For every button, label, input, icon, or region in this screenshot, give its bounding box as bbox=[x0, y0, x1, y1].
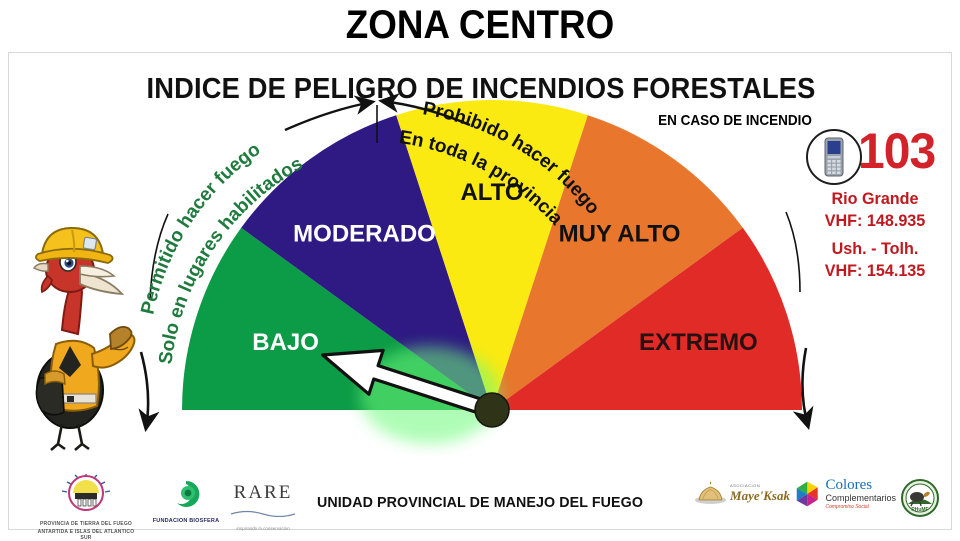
radio-place-2: Ush. - Tolh. bbox=[832, 239, 919, 258]
logo-fundacion-biosfera: FUNDACION BIOSFERA bbox=[146, 478, 226, 524]
radio-place-1: Rio Grande bbox=[831, 189, 918, 208]
logo-caption-colores-1: Colores bbox=[825, 478, 896, 493]
logo-tagline-rare: inspirando la conservacion bbox=[224, 526, 302, 531]
poster-root: ZONA CENTRO INDICE DE PELIGRO DE INCENDI… bbox=[0, 0, 960, 538]
logo-colores-complementarios: Colores Complementarios Compromiso Socia… bbox=[792, 478, 896, 510]
logo-caption-provincia-1: PROVINCIA DE TIERRA DEL FUEGO bbox=[36, 521, 136, 527]
emergency-number: 103 bbox=[858, 122, 954, 180]
logo-caption-biosfera: FUNDACION BIOSFERA bbox=[146, 518, 226, 524]
footer-organization: UNIDAD PROVINCIAL DE MANEJO DEL FUEGO bbox=[271, 494, 689, 511]
svg-text:PHuMF: PHuMF bbox=[911, 507, 928, 513]
logo-provincia-tierra-del-fuego: PROVINCIA DE TIERRA DEL FUEGO ANTARTIDA … bbox=[36, 474, 136, 541]
panel-subtitle: INDICE DE PELIGRO DE INCENDIOS FORESTALE… bbox=[37, 73, 924, 106]
logo-maye-ksak: ASOCIACION Maye'Ksak bbox=[694, 480, 790, 506]
page-title: ZONA CENTRO bbox=[38, 2, 921, 48]
radio-freq-1: VHF: 148.935 bbox=[825, 211, 926, 230]
woodpecker-firefighter-mascot bbox=[18, 218, 138, 453]
logo-caption-provincia-2: ANTARTIDA E ISLAS DEL ATLANTICO SUR bbox=[36, 529, 136, 541]
mobile-phone-icon bbox=[806, 129, 862, 185]
logo-tagline-colores: Compromiso Social bbox=[825, 504, 896, 510]
logo-phumf: PHuMF bbox=[898, 478, 942, 523]
radio-frequencies: Rio Grande VHF: 148.935 Ush. - Tolh. VHF… bbox=[794, 188, 956, 282]
emergency-caption: EN CASO DE INCENDIO bbox=[650, 112, 821, 129]
logo-rare: RARE inspirando la conservacion bbox=[224, 482, 302, 531]
logo-caption-rare: RARE bbox=[224, 482, 302, 504]
radio-freq-2: VHF: 154.135 bbox=[825, 261, 926, 280]
logo-caption-colores-2: Complementarios bbox=[825, 493, 896, 503]
logo-caption-maye-ksak: Maye'Ksak bbox=[730, 488, 790, 504]
